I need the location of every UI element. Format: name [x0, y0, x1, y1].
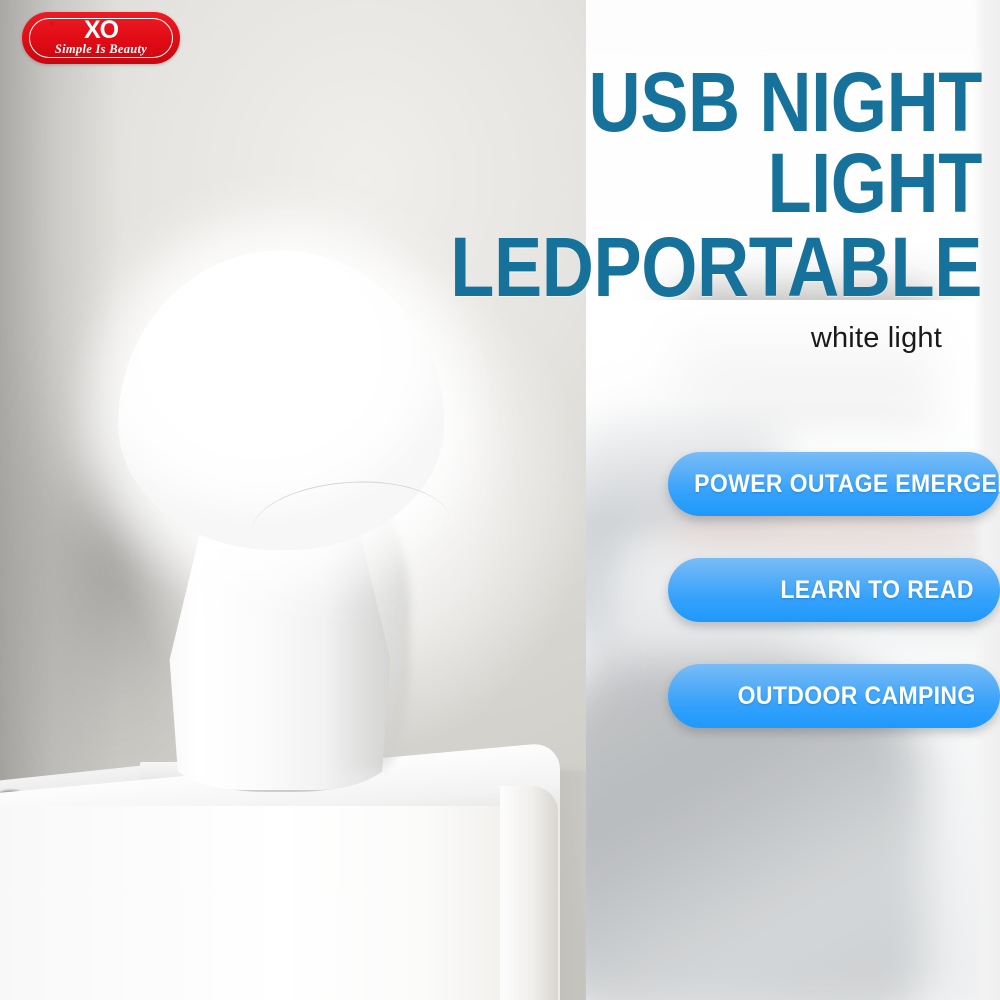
page-title: USB NIGHT LIGHT LEDPORTABLE: [432, 62, 982, 308]
feature-pill-learn-to-read[interactable]: LEARN TO READ: [668, 558, 1000, 622]
logo-wordmark: XO: [22, 17, 180, 43]
feature-pill-power-outage-emergency[interactable]: POWER OUTAGE EMERGENCY: [668, 452, 1000, 516]
table-front-face: [0, 806, 560, 1000]
led-bulb: [100, 250, 460, 790]
headline-line-1: USB NIGHT LIGHT: [432, 62, 982, 223]
table-right-edge: [500, 786, 558, 1000]
feature-pill-label: POWER OUTAGE EMERGENCY: [681, 470, 986, 499]
headline-line-2: LEDPORTABLE: [432, 227, 982, 308]
feature-pill-label: LEARN TO READ: [681, 576, 986, 605]
feature-pill-label: OUTDOOR CAMPING: [681, 682, 986, 711]
product-banner: XO Simple Is Beauty USB NIGHT LIGHT LEDP…: [0, 0, 1000, 1000]
logo-tagline: Simple Is Beauty: [22, 42, 180, 56]
feature-pill-list: POWER OUTAGE EMERGENCY LEARN TO READ OUT…: [668, 452, 1000, 770]
subtitle: white light: [811, 322, 942, 355]
feature-pill-outdoor-camping[interactable]: OUTDOOR CAMPING: [668, 664, 1000, 728]
brand-logo[interactable]: XO Simple Is Beauty: [22, 12, 180, 64]
